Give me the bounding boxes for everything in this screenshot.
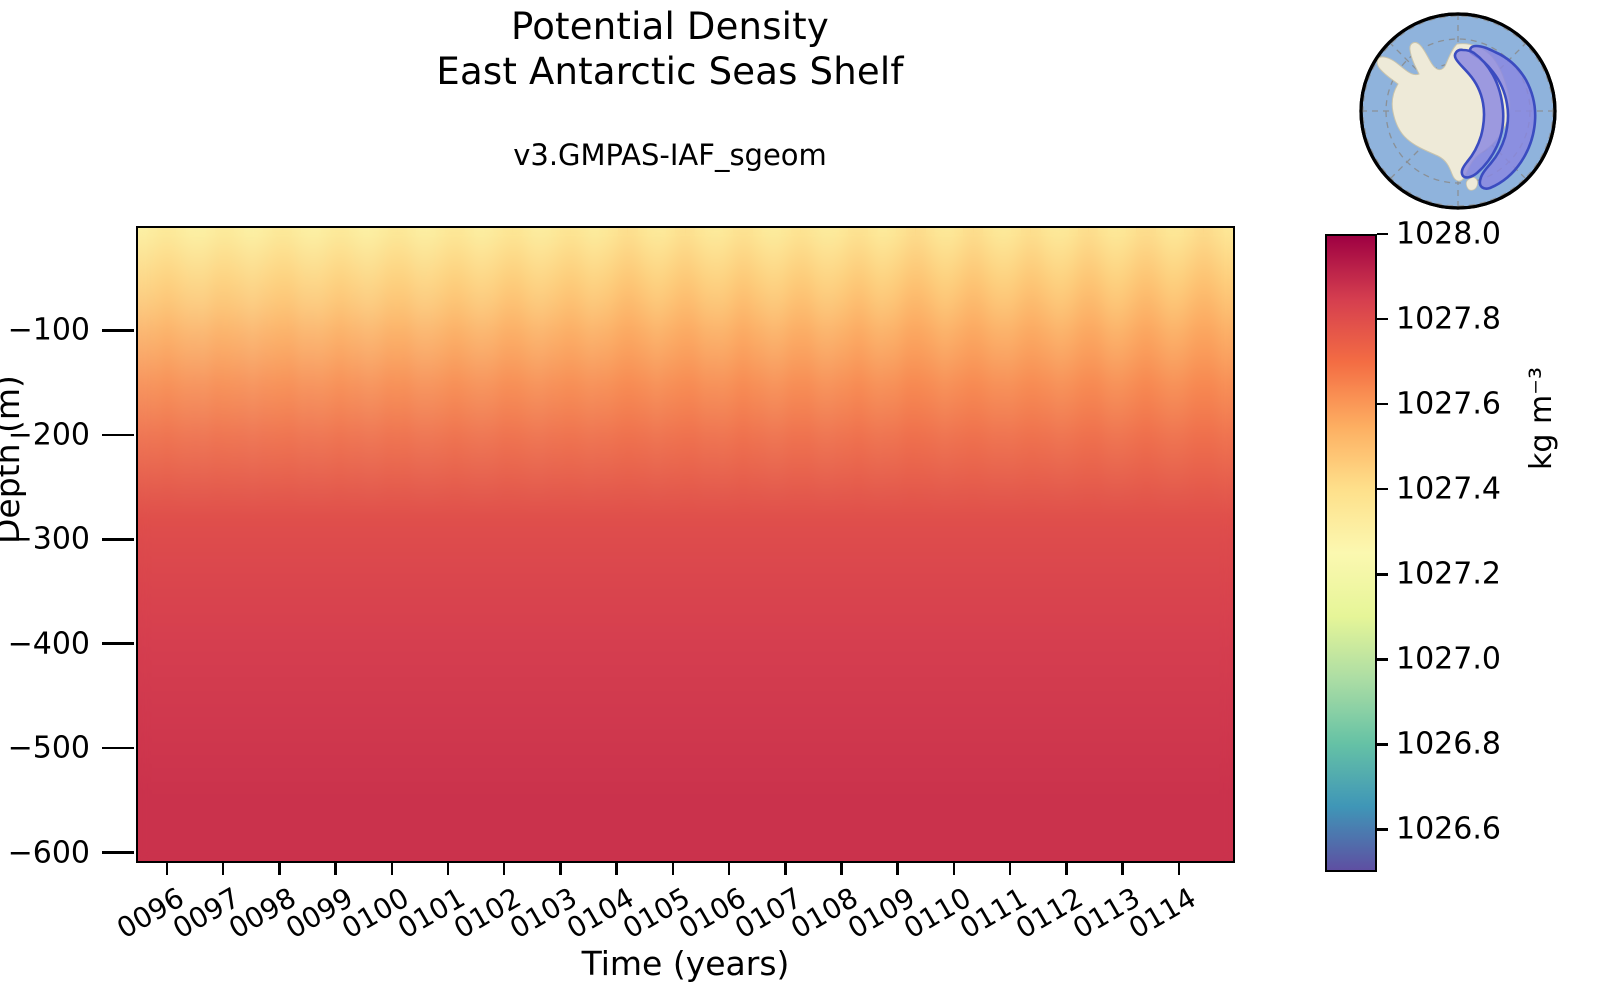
colorbar-tick-label: 1027.0: [1396, 642, 1501, 677]
title-line-2: East Antarctic Seas Shelf: [0, 49, 1340, 94]
colorbar-tick: [1377, 488, 1388, 491]
y-tick: [102, 538, 134, 541]
colorbar-tick: [1377, 318, 1388, 321]
colorbar-tick-label: 1026.6: [1396, 812, 1501, 847]
x-tick: [896, 863, 899, 875]
colorbar-tick-label: 1026.8: [1396, 727, 1501, 762]
colorbar-tick: [1377, 743, 1388, 746]
y-tick-label: −600: [8, 835, 90, 870]
x-tick: [784, 863, 787, 875]
x-tick: [1121, 863, 1124, 875]
x-tick: [615, 863, 618, 875]
y-tick: [102, 329, 134, 332]
colorbar-tick-label: 1027.8: [1396, 302, 1501, 337]
y-axis-title: Depth (m): [0, 375, 27, 544]
y-tick: [102, 642, 134, 645]
x-tick: [559, 863, 562, 875]
colorbar-tick: [1377, 828, 1388, 831]
colorbar-tick-label: 1028.0: [1396, 217, 1501, 252]
figure-title: Potential Density East Antarctic Seas Sh…: [0, 4, 1340, 94]
x-tick: [278, 863, 281, 875]
antarctica-locator-map: [1353, 6, 1563, 216]
x-tick: [334, 863, 337, 875]
x-tick: [728, 863, 731, 875]
colorbar-tick-label: 1027.6: [1396, 387, 1501, 422]
colorbar-tick: [1377, 403, 1388, 406]
x-tick: [503, 863, 506, 875]
x-tick: [953, 863, 956, 875]
x-tick: [672, 863, 675, 875]
colorbar-tick: [1377, 233, 1388, 236]
colorbar-gradient: [1327, 236, 1375, 870]
y-tick: [102, 434, 134, 437]
y-tick-label: −500: [8, 731, 90, 766]
y-tick-label: −100: [8, 313, 90, 348]
x-axis-title: Time (years): [136, 944, 1235, 983]
heatmap-plot-area: [136, 226, 1235, 863]
figure-subtitle: v3.GMPAS-IAF_sgeom: [0, 138, 1340, 172]
y-tick: [102, 747, 134, 750]
y-tick-label: −400: [8, 626, 90, 661]
colorbar-tick-label: 1027.4: [1396, 472, 1501, 507]
x-tick: [1065, 863, 1068, 875]
y-tick: [102, 851, 134, 854]
x-tick: [840, 863, 843, 875]
colorbar-title: kg m⁻³: [1524, 367, 1559, 470]
colorbar-tick: [1377, 573, 1388, 576]
x-tick: [1009, 863, 1012, 875]
title-line-1: Potential Density: [0, 4, 1340, 49]
heatmap-smoothing: [138, 228, 1233, 861]
colorbar-tick-label: 1027.2: [1396, 557, 1501, 592]
colorbar: [1325, 234, 1377, 872]
colorbar-tick: [1377, 658, 1388, 661]
x-tick: [222, 863, 225, 875]
x-tick: [166, 863, 169, 875]
x-tick: [1178, 863, 1181, 875]
x-tick: [391, 863, 394, 875]
x-tick: [447, 863, 450, 875]
